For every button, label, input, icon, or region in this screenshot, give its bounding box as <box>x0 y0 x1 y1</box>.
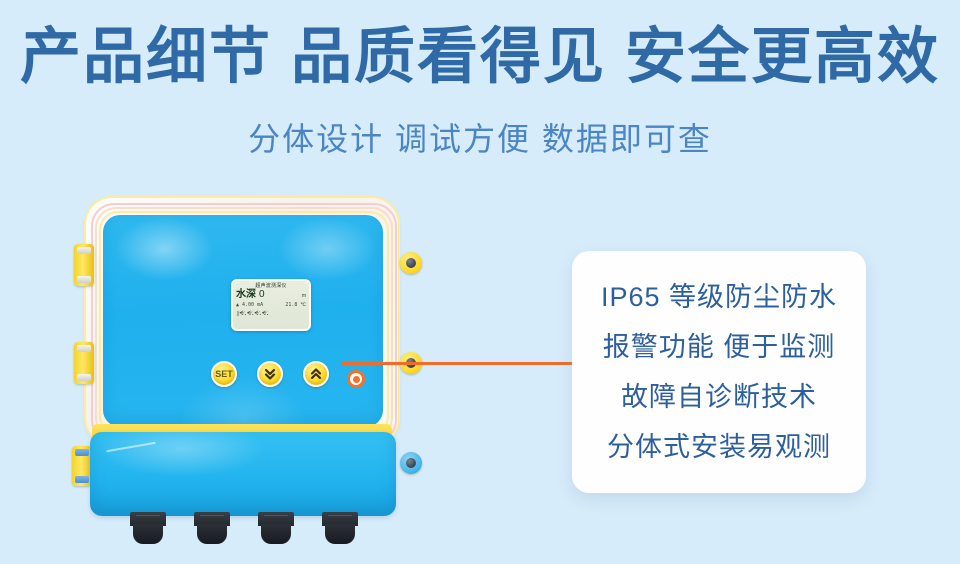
body-highlight <box>106 442 156 453</box>
hinge-cap-bottom <box>75 476 89 483</box>
feature-line-3: 故障自诊断技术 <box>621 372 817 422</box>
hinge-middle <box>74 342 94 384</box>
feature-callout-card: IP65 等级防尘防水 报警功能 便于监测 故障自诊断技术 分体式安装易观测 <box>572 251 866 493</box>
latch-top <box>400 252 422 274</box>
feature-line-1: IP65 等级防尘防水 <box>601 272 837 322</box>
gland-ridge <box>328 515 352 516</box>
lcd-current-unit: mA <box>257 302 263 309</box>
product-photo: 超声波测深仪 水深 0 m ▲ 4.00 mA 21.8 ℃ ▯ᗕ⁄.ᗕ⁄.ᗕ⁄… <box>78 196 418 546</box>
lcd-status-row: ▯ᗕ⁄.ᗕ⁄.ᗕ⁄.ᗕ⁄. <box>236 310 306 318</box>
gland-body <box>197 524 227 544</box>
lcd-screen: 超声波测深仪 水深 0 m ▲ 4.00 mA 21.8 ℃ ▯ᗕ⁄.ᗕ⁄.ᗕ⁄… <box>231 279 311 331</box>
double-chevron-down-icon <box>263 367 277 381</box>
promo-banner: 产品细节 品质看得见 安全更高效 分体设计 调试方便 数据即可查 超声波测深仪 … <box>0 0 960 564</box>
indicator-center-dot <box>353 376 360 383</box>
hinge-bottom <box>72 446 92 486</box>
feature-line-2: 报警功能 便于监测 <box>603 322 836 372</box>
cable-gland-row <box>130 512 360 548</box>
lcd-temperature-value: 21.8 <box>285 302 297 309</box>
screw-icon <box>406 258 416 268</box>
keypad: SET <box>211 361 341 391</box>
screw-icon <box>406 458 416 468</box>
page-title: 产品细节 品质看得见 安全更高效 <box>0 22 960 90</box>
cable-gland <box>322 512 358 544</box>
lcd-main-row: 水深 0 m <box>236 289 306 302</box>
hinge-top <box>74 244 94 286</box>
hinge-cap-top <box>77 247 91 254</box>
set-button[interactable]: SET <box>211 361 237 387</box>
lcd-depth-unit: m <box>302 290 306 302</box>
cable-gland <box>194 512 230 544</box>
hinge-cap-bottom <box>77 276 91 283</box>
lcd-temperature-unit: ℃ <box>300 302 306 309</box>
lcd-inner: 超声波测深仪 水深 0 m ▲ 4.00 mA 21.8 ℃ ▯ᗕ⁄.ᗕ⁄.ᗕ⁄… <box>233 281 309 329</box>
lcd-secondary-row: ▲ 4.00 mA 21.8 ℃ <box>236 302 306 309</box>
gland-ridge <box>200 515 224 516</box>
down-button[interactable] <box>257 361 283 387</box>
gland-body <box>133 524 163 544</box>
page-subtitle: 分体设计 调试方便 数据即可查 <box>0 120 960 158</box>
gland-ridge <box>136 515 160 516</box>
enclosure-lid-face: 超声波测深仪 水深 0 m ▲ 4.00 mA 21.8 ℃ ▯ᗕ⁄.ᗕ⁄.ᗕ⁄… <box>103 215 383 427</box>
double-chevron-up-icon <box>309 367 323 381</box>
lcd-depth-value: 0 <box>259 289 265 301</box>
lcd-triangle-icon: ▲ <box>236 302 239 309</box>
hinge-cap-top <box>77 345 91 352</box>
gland-body <box>325 524 355 544</box>
gland-body <box>261 524 291 544</box>
cable-gland <box>258 512 294 544</box>
indicator-ring-gap <box>350 373 362 385</box>
lcd-current-value: 4.00 <box>242 302 254 309</box>
latch-bottom <box>400 452 422 474</box>
up-button[interactable] <box>303 361 329 387</box>
callout-connector-line <box>341 362 573 365</box>
cable-gland <box>130 512 166 544</box>
power-indicator-icon <box>347 370 365 388</box>
enclosure-body <box>90 432 396 516</box>
feature-line-4: 分体式安装易观测 <box>607 422 831 472</box>
lcd-depth-label: 水深 <box>236 289 256 301</box>
hinge-cap-bottom <box>77 374 91 381</box>
hinge-cap-top <box>75 449 89 456</box>
gland-ridge <box>264 515 288 516</box>
